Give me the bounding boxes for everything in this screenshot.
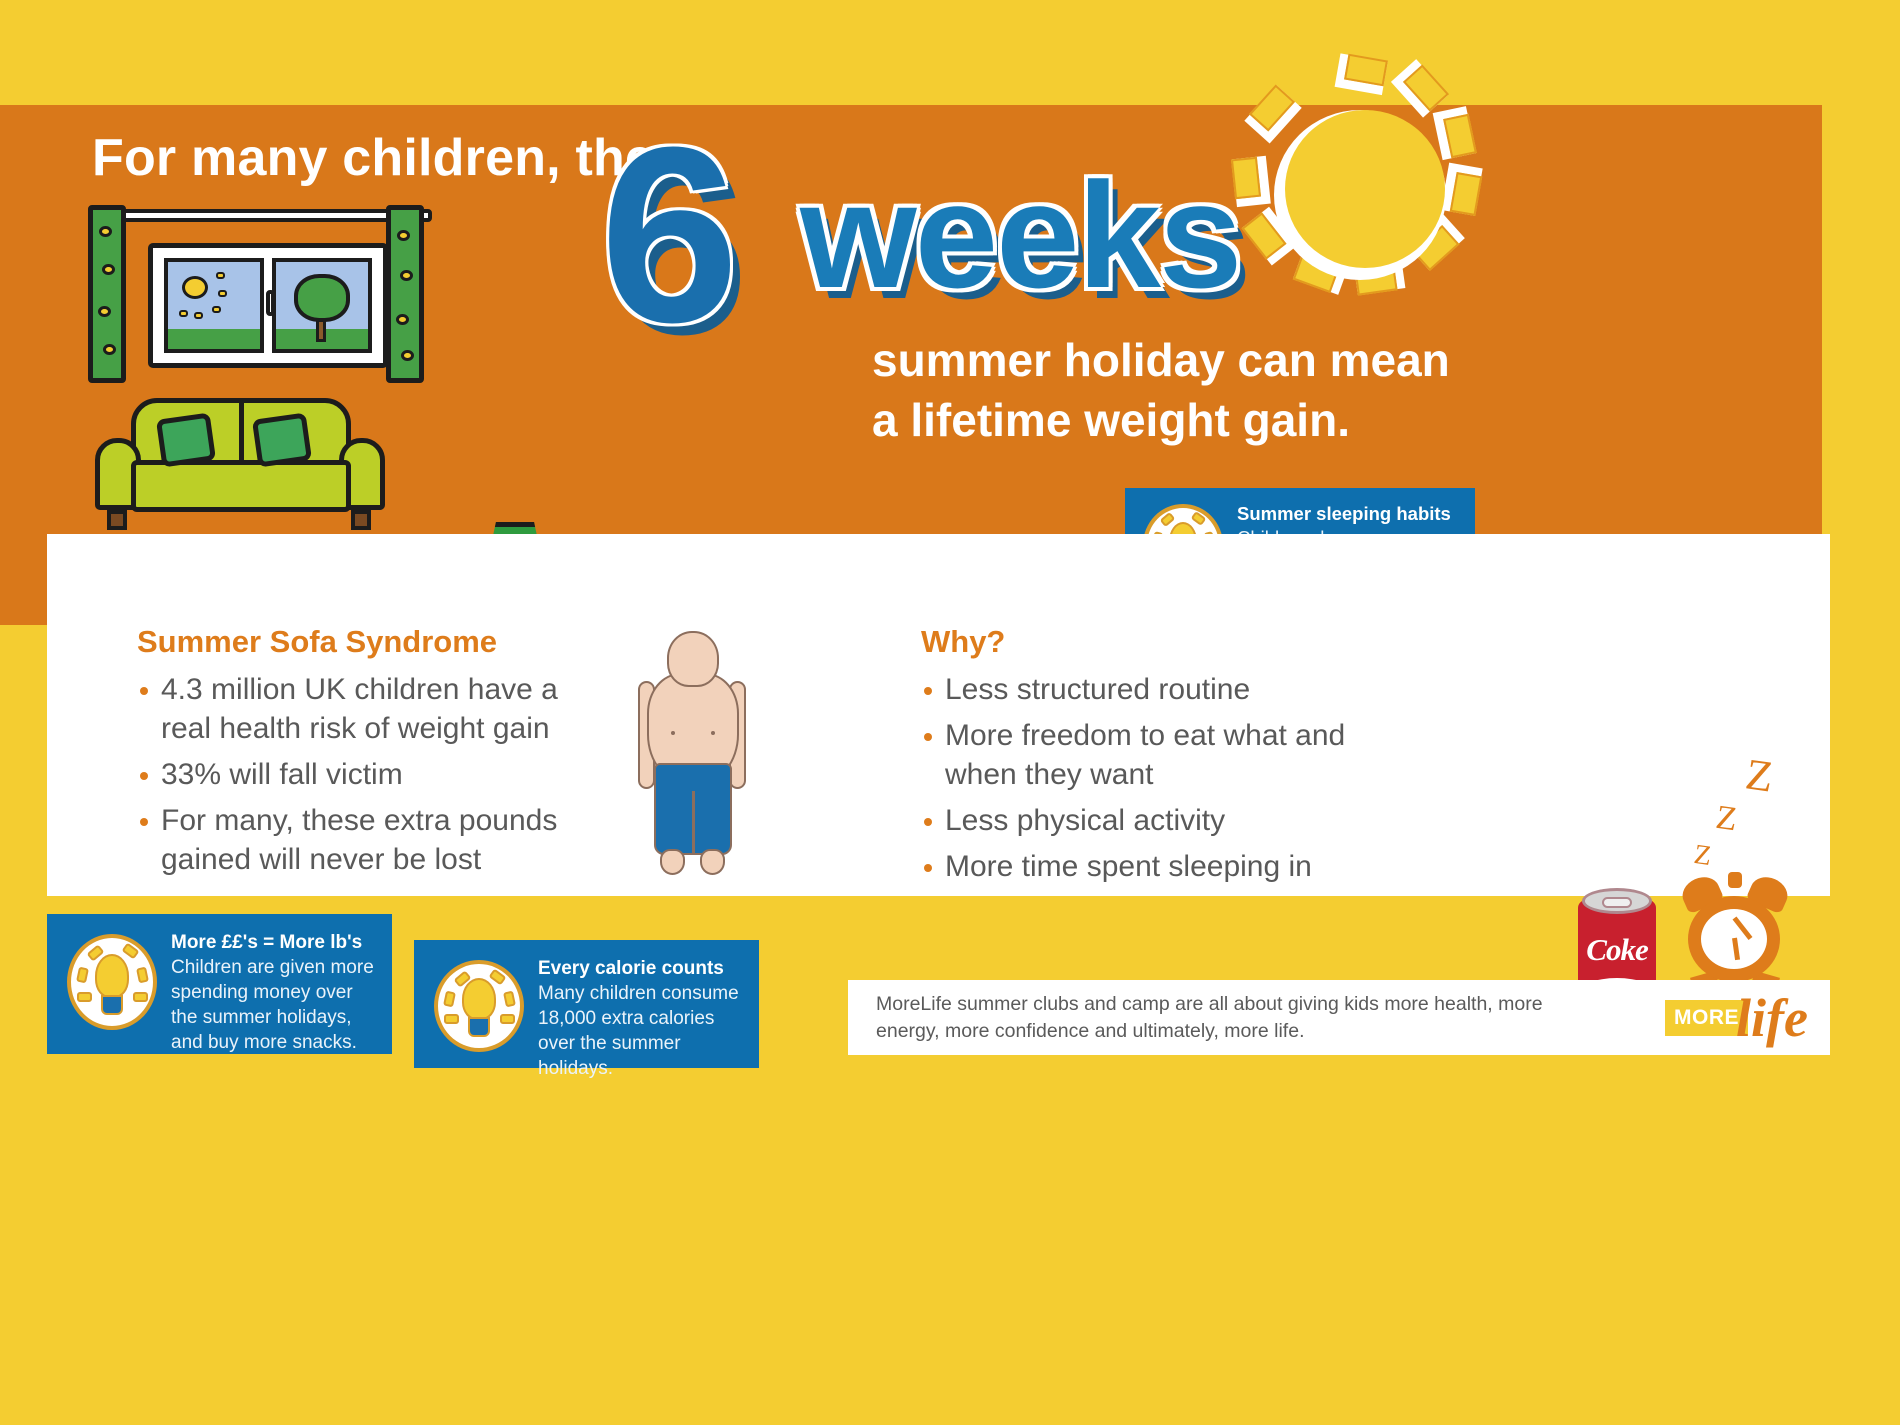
footer-bar: MoreLife summer clubs and camp are all a…	[848, 980, 1830, 1055]
list-item: More freedom to eat what and when they w…	[921, 716, 1391, 794]
morelife-logo[interactable]: MORE life	[1665, 994, 1808, 1042]
column-why: Why? Less structured routine More freedo…	[921, 624, 1391, 893]
alarm-clock-icon	[1680, 870, 1790, 996]
curtain-left	[88, 205, 126, 383]
hero-headline: For many children, the	[92, 128, 654, 188]
tip-text-block: Every calorie counts Many children consu…	[538, 956, 743, 1081]
window-pane-right	[272, 258, 372, 353]
tip-card-every-calorie-counts[interactable]: Every calorie counts Many children consu…	[414, 940, 759, 1068]
bullet-list-left: 4.3 million UK children have a real heal…	[137, 670, 607, 879]
overweight-child-icon	[627, 631, 757, 876]
coke-label: Coke	[1583, 932, 1651, 968]
window-icon	[88, 205, 448, 390]
list-item: Less physical activity	[921, 801, 1391, 840]
list-item: Less structured routine	[921, 670, 1391, 709]
infographic-canvas: For many children, the 6 weeks summer ho…	[0, 0, 1900, 1425]
tip-body: Many children consume 18,000 extra calor…	[538, 981, 743, 1081]
list-item: For many, these extra pounds gained will…	[137, 801, 607, 879]
window-pane-left	[164, 258, 264, 353]
column-summer-sofa-syndrome: Summer Sofa Syndrome 4.3 million UK chil…	[137, 624, 607, 886]
logo-life-text: life	[1736, 994, 1808, 1042]
lightbulb-icon	[63, 930, 161, 1034]
footer-text: MoreLife summer clubs and camp are all a…	[876, 991, 1576, 1045]
tree-icon	[294, 274, 350, 322]
hero-subline: summer holiday can mean a lifetime weigh…	[872, 330, 1472, 450]
column-title-left: Summer Sofa Syndrome	[137, 624, 607, 660]
bullet-list-right: Less structured routine More freedom to …	[921, 670, 1391, 886]
window-frame	[148, 243, 388, 368]
tip-title: More ££'s = More lb's	[171, 930, 376, 955]
sofa-cushion	[252, 412, 312, 467]
list-item: More time spent sleeping in	[921, 847, 1391, 886]
column-title-right: Why?	[921, 624, 1391, 660]
curtain-right	[386, 205, 424, 383]
sofa-cushion	[156, 412, 216, 467]
list-item: 4.3 million UK children have a real heal…	[137, 670, 607, 748]
list-item: 33% will fall victim	[137, 755, 607, 794]
window-handle-icon	[266, 290, 275, 316]
tip-body: Children are given more spending money o…	[171, 955, 376, 1055]
hero-big-number: 6	[600, 110, 739, 360]
window-sun-icon	[182, 276, 208, 299]
sofa-icon	[95, 398, 385, 533]
main-content-panel: Summer Sofa Syndrome 4.3 million UK chil…	[47, 534, 1830, 896]
tip-title: Every calorie counts	[538, 956, 743, 981]
hero-big-word: weeks	[800, 160, 1240, 310]
tip-text-block: More ££'s = More lb's Children are given…	[171, 930, 376, 1055]
tip-card-more-pounds[interactable]: More ££'s = More lb's Children are given…	[47, 914, 392, 1054]
lightbulb-icon	[430, 956, 528, 1056]
curtain-rail	[106, 209, 432, 222]
tip-title: Summer sleeping habits	[1237, 502, 1461, 526]
sun-icon	[1230, 55, 1500, 325]
